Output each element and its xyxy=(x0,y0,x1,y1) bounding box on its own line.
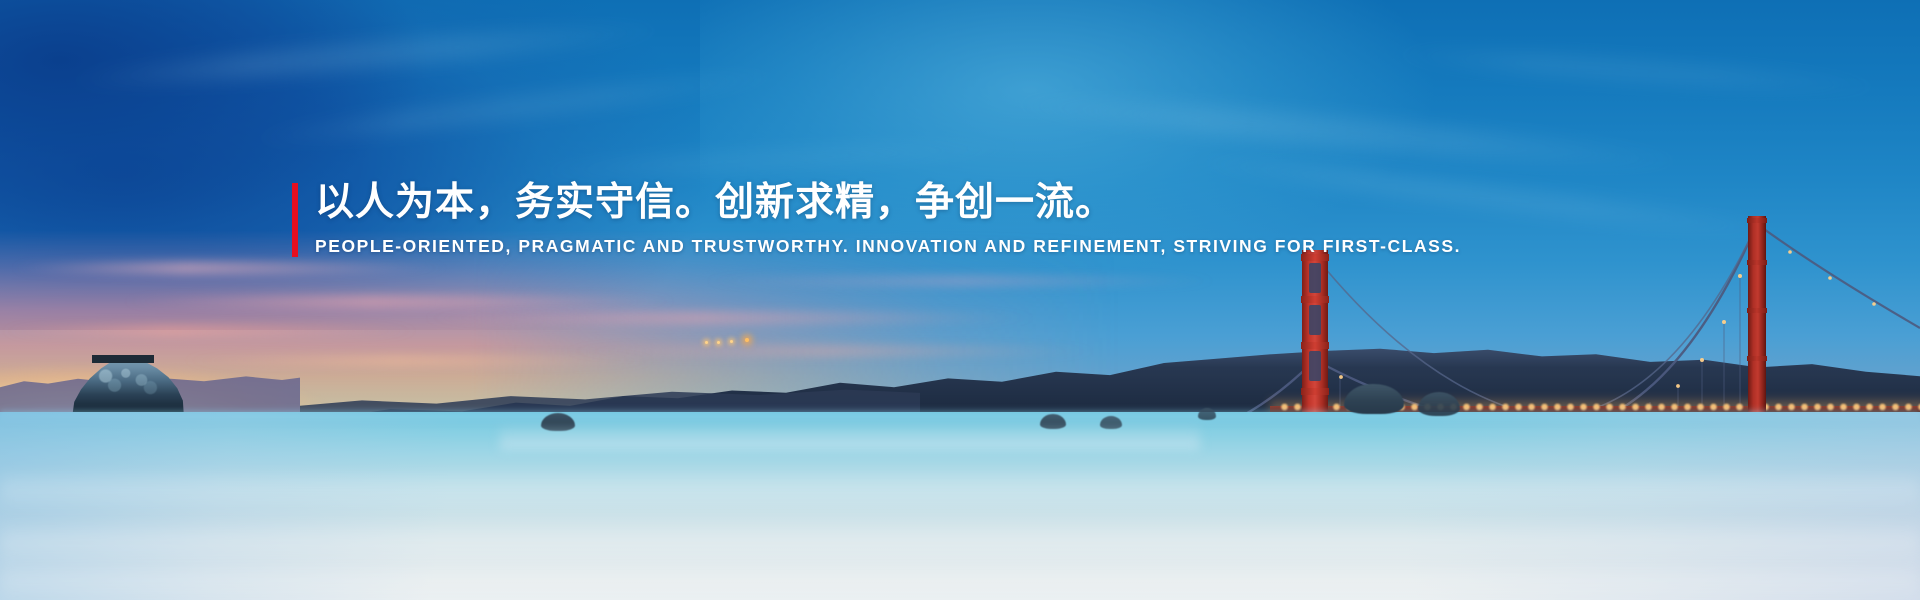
water-mist-band xyxy=(0,470,1920,510)
tower-crossbeam xyxy=(1747,260,1767,265)
tower-crossbeam xyxy=(1301,342,1329,349)
tower-crossbeam xyxy=(1301,388,1329,395)
banner-text-column: 以人为本，务实守信。创新求精，争创一流。 PEOPLE-ORIENTED, PR… xyxy=(315,183,1461,257)
tower-portal xyxy=(1309,305,1321,335)
sunset-cloud-streak xyxy=(180,356,660,365)
tower-crossbeam xyxy=(1747,356,1767,361)
banner-headline-chinese: 以人为本，务实守信。创新求精，争创一流。 xyxy=(315,183,1461,223)
banner-text-block: 以人为本，务实守信。创新求精，争创一流。 PEOPLE-ORIENTED, PR… xyxy=(292,183,1461,257)
hillside-light xyxy=(745,338,749,342)
water-mist-band xyxy=(0,556,1920,600)
hillside-light xyxy=(730,340,733,343)
tower-crossbeam xyxy=(1301,296,1329,303)
water-rock-mist-fade xyxy=(500,424,1200,450)
hero-banner: 以人为本，务实守信。创新求精，争创一流。 PEOPLE-ORIENTED, PR… xyxy=(0,0,1920,600)
sunset-cloud-streak xyxy=(120,296,680,307)
hillside-light xyxy=(705,341,708,344)
tower-portal xyxy=(1309,263,1321,293)
red-accent-bar xyxy=(292,183,298,257)
tower-crossbeam xyxy=(1747,218,1767,223)
sunset-cloud-streak xyxy=(10,262,450,274)
bridge-tower-far xyxy=(1748,216,1766,412)
water-rock xyxy=(1198,408,1216,420)
hillside-light xyxy=(717,341,720,344)
tower-portal xyxy=(1309,351,1321,381)
sunset-cloud-streak xyxy=(560,346,1100,356)
sunset-cloud-streak xyxy=(0,326,420,336)
banner-subheadline-english: PEOPLE-ORIENTED, PRAGMATIC AND TRUSTWORT… xyxy=(315,236,1461,257)
tower-crossbeam xyxy=(1747,308,1767,313)
sunset-cloud-streak xyxy=(420,312,1040,324)
bridge-tower-near xyxy=(1302,250,1328,426)
sea-stack-crest xyxy=(92,355,154,363)
